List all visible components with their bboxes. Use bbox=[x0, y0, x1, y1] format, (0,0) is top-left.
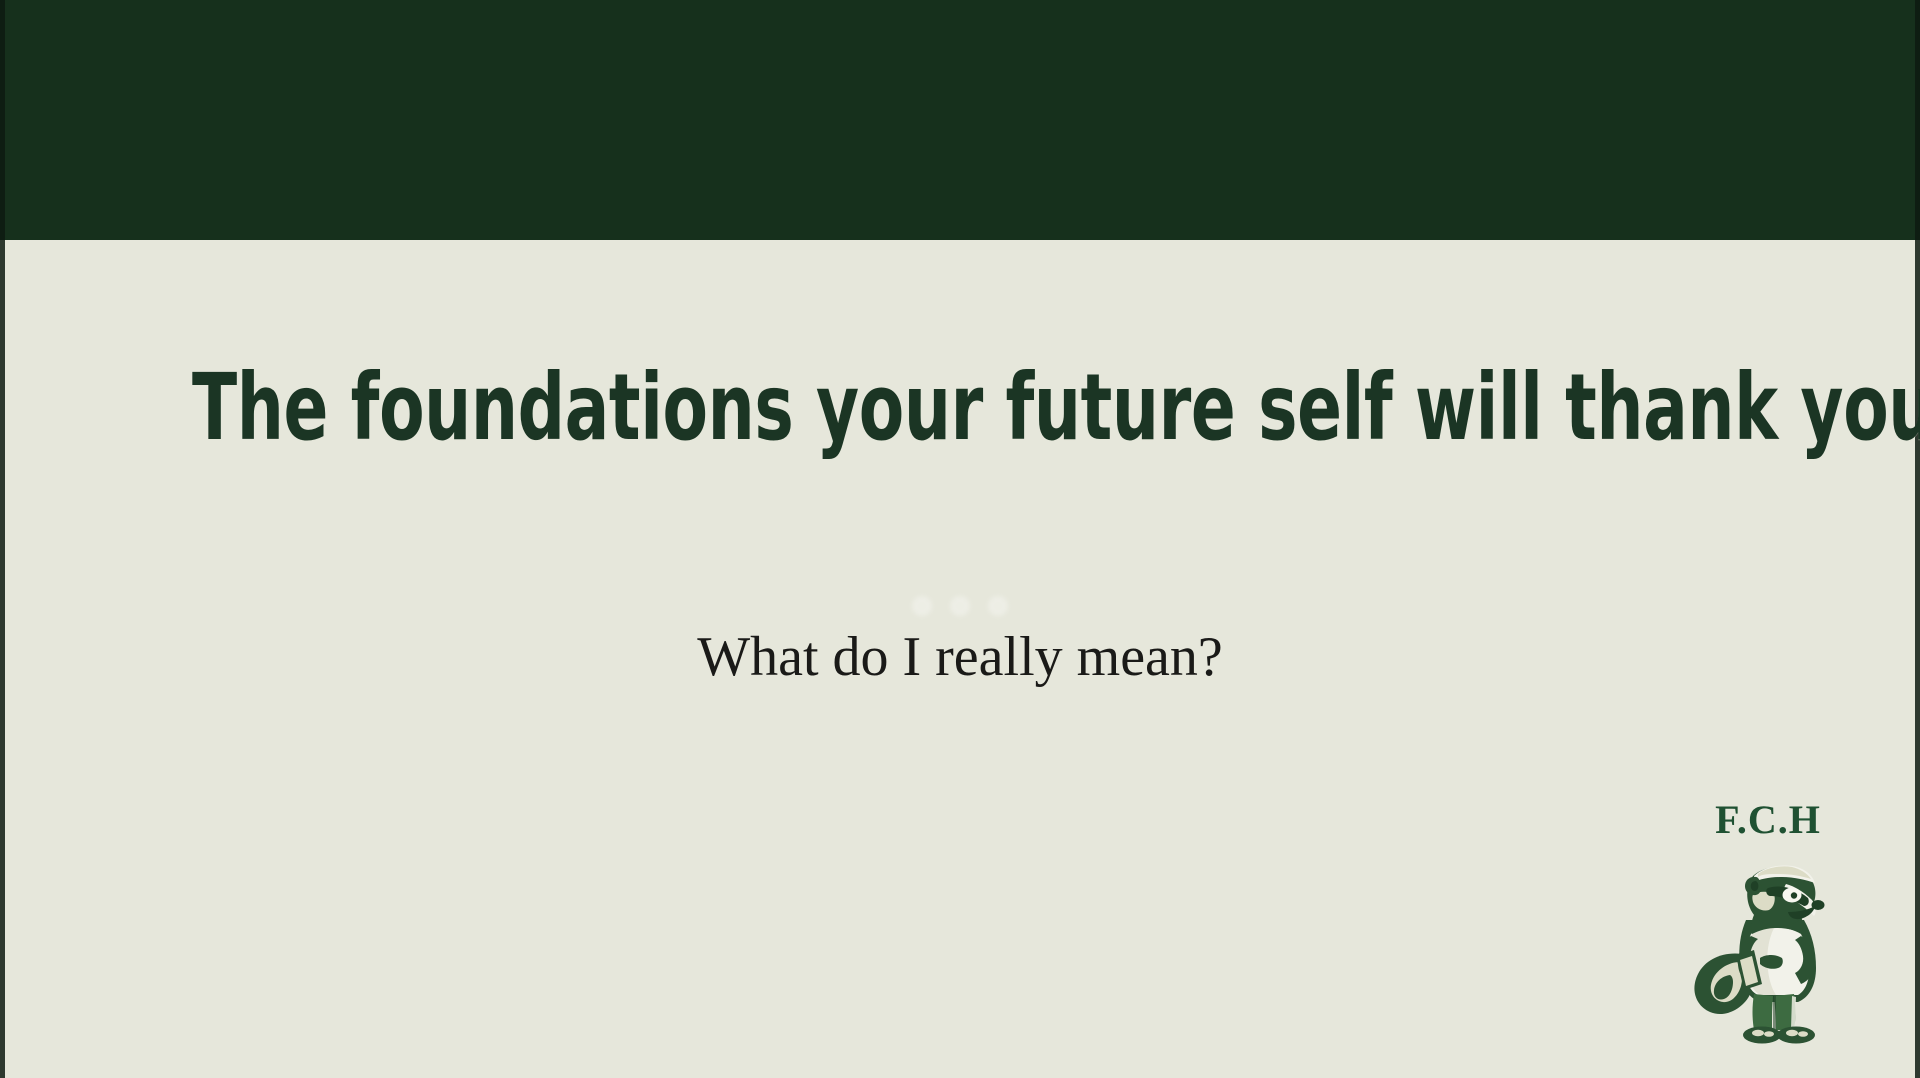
loading-dots-indicator bbox=[0, 596, 1920, 616]
presentation-slide: The foundations your future self will th… bbox=[0, 0, 1920, 1078]
slide-subtitle: What do I really mean? bbox=[0, 628, 1920, 687]
left-edge-strip bbox=[0, 0, 5, 1078]
loading-dot-1 bbox=[912, 596, 932, 616]
right-edge-strip bbox=[1915, 0, 1920, 1078]
brand-logo: F.C.H bbox=[1688, 800, 1848, 1045]
logo-wordmark: F.C.H bbox=[1688, 800, 1848, 840]
loading-dot-3 bbox=[988, 596, 1008, 616]
loading-dot-2 bbox=[950, 596, 970, 616]
top-green-band bbox=[0, 0, 1920, 240]
badger-mascot-icon bbox=[1688, 850, 1848, 1045]
slide-headline: The foundations your future self will th… bbox=[192, 362, 1728, 454]
